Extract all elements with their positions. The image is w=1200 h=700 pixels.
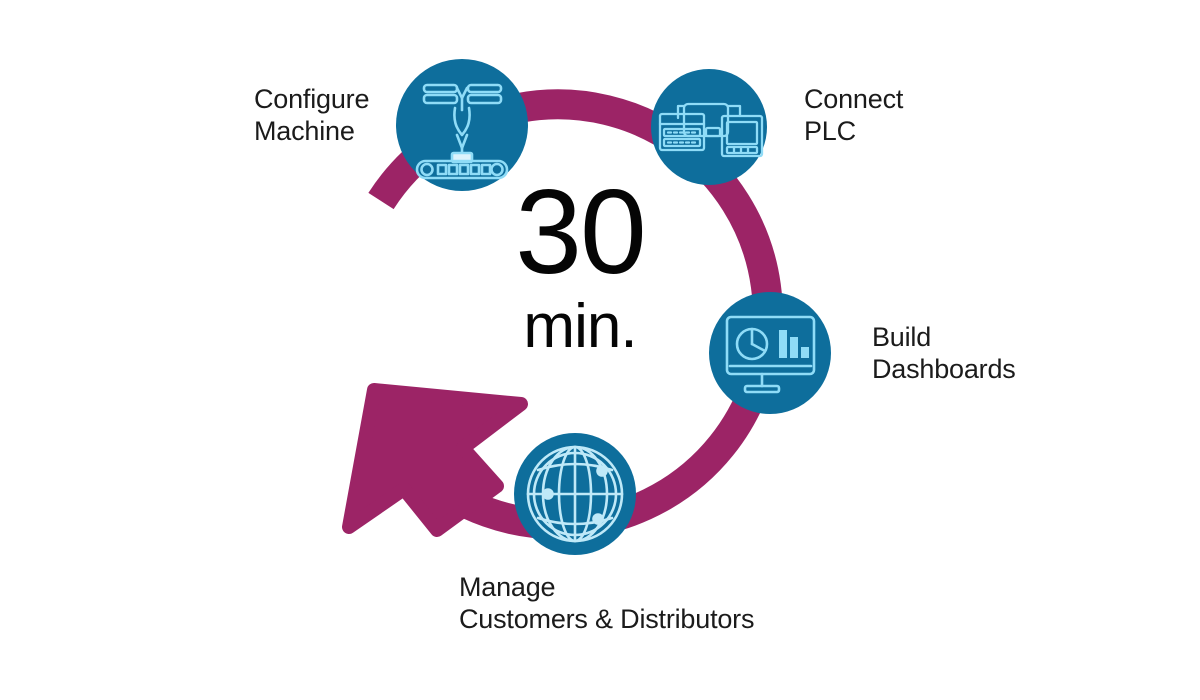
globe-network-icon [528, 447, 622, 541]
node-label-build-dashboards: Build Dashboards [872, 322, 1016, 385]
center-metric: 30 min. [430, 175, 730, 358]
node-connect-plc[interactable] [651, 69, 767, 185]
node-manage-customers[interactable] [514, 433, 636, 555]
node-circle-configure-machine [396, 59, 528, 191]
center-metric-unit: min. [430, 296, 730, 358]
node-label-manage-customers: Manage Customers & Distributors [459, 572, 754, 635]
diagram-canvas: Configure Machine Connect PLC Build Dash… [0, 0, 1200, 700]
center-metric-value: 30 [430, 175, 730, 290]
node-label-configure-machine: Configure Machine [254, 84, 369, 147]
node-configure-machine[interactable] [396, 59, 528, 191]
node-label-connect-plc: Connect PLC [804, 84, 903, 147]
